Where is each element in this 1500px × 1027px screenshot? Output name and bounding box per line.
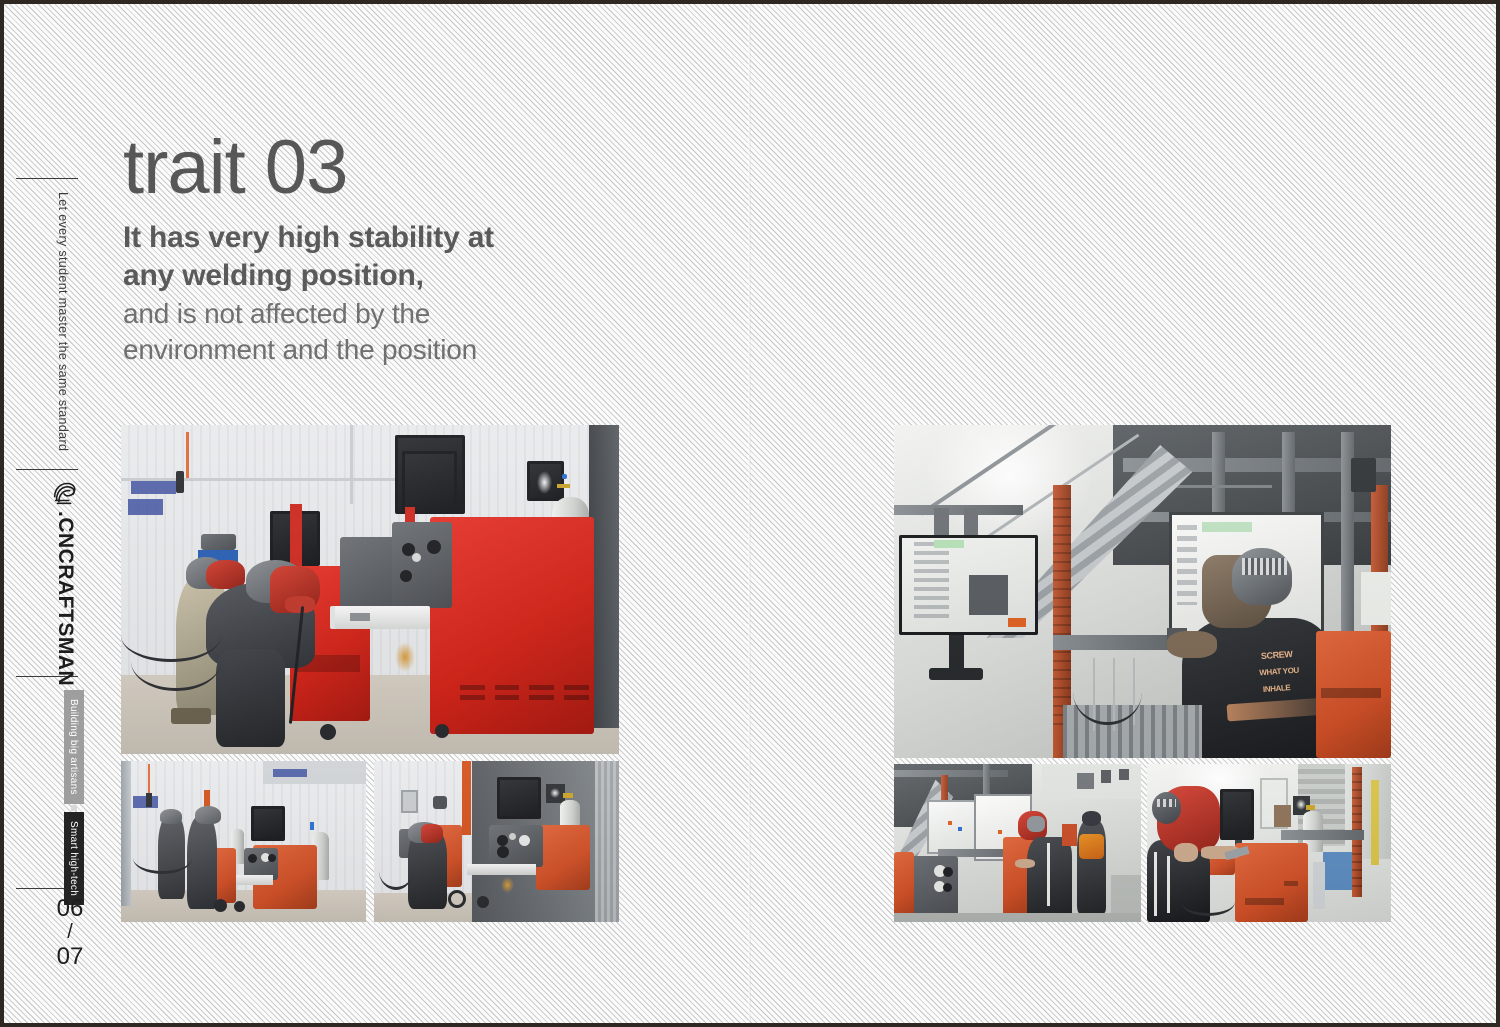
page-number-separator: / (50, 922, 90, 944)
subhead-light-line-1: and is not affected by the (123, 296, 743, 332)
brochure-page: Let every student master the same standa… (0, 0, 1500, 1027)
brand-name: .CNCRAFTSMAN (53, 511, 77, 686)
page-number: 06 / 07 (50, 896, 90, 969)
swirl-logo-icon (50, 478, 80, 508)
subhead-strong-line-2: any welding position, (123, 257, 743, 295)
subhead-strong-line-1: It has very high stability at (123, 219, 743, 257)
photo-workshop-welder-under-steel-mezzanine: SCREW WHAT YOU INHALE (894, 425, 1391, 758)
left-sidebar: Let every student master the same standa… (16, 4, 88, 1023)
headline-block: trait 03 It has very high stability at a… (123, 132, 743, 369)
page-number-total: 07 (50, 944, 90, 970)
slogan-chips: Building big artisans Smart high-tech (64, 690, 84, 905)
page-number-current: 06 (50, 896, 90, 922)
chip-smart-high-tech: Smart high-tech (64, 812, 84, 905)
chip-building-big-artisans: Building big artisans (64, 690, 84, 804)
chip-separator (71, 805, 77, 811)
photo-welding-training-booth-red-machines (121, 425, 619, 754)
photo-trainee-at-orange-simulator (374, 761, 619, 922)
brand-block: .CNCRAFTSMAN (50, 478, 80, 686)
sidebar-divider-brand (16, 469, 78, 470)
page-title: trait 03 (123, 132, 743, 205)
photo-welding-room-wide-view (121, 761, 366, 922)
subhead-strong: It has very high stability at any weldin… (123, 219, 743, 296)
sidebar-divider-top (16, 178, 78, 179)
sidebar-tagline: Let every student master the same standa… (56, 192, 70, 451)
photo-students-observing-simulator (894, 764, 1141, 922)
subhead-light-line-2: environment and the position (123, 332, 743, 368)
subhead-light: and is not affected by the environment a… (123, 296, 743, 369)
page-fold-seam (748, 4, 751, 1023)
photo-student-welding-closeup (1147, 764, 1391, 922)
